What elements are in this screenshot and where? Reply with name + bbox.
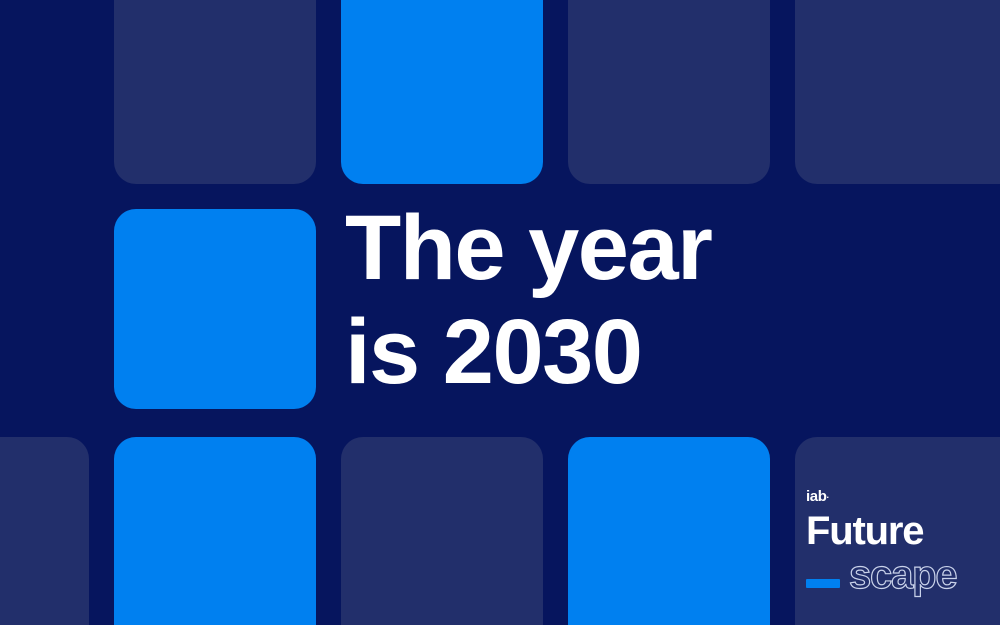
background-tile-r2c2 (114, 209, 316, 409)
background-tile-r3c2 (114, 437, 316, 625)
futurescape-title-card: The year is 2030 iab. Future scape (0, 0, 1000, 625)
logo-scape-row: scape (806, 553, 994, 597)
headline-line-2: is 2030 (345, 300, 711, 404)
background-tile-r3c4 (568, 437, 770, 625)
iab-brand-mark-icon: . (826, 490, 829, 500)
background-tile-r1c4 (568, 0, 770, 184)
background-tile-r1c5 (795, 0, 1000, 184)
page-title: The year is 2030 (345, 196, 711, 404)
background-tile-r1c2 (114, 0, 316, 184)
headline-line-1: The year (345, 196, 711, 300)
logo-word-future: Future (806, 510, 994, 552)
iab-futurescape-logo: iab. Future scape (806, 487, 994, 597)
iab-brand-wordmark: iab. (806, 487, 994, 505)
logo-word-scape: scape (849, 554, 956, 596)
background-tile-r3c1 (0, 437, 89, 625)
background-tile-r1c3 (341, 0, 543, 184)
iab-brand-text: iab (806, 488, 826, 505)
background-tile-r3c3 (341, 437, 543, 625)
logo-dash-icon (806, 579, 840, 588)
